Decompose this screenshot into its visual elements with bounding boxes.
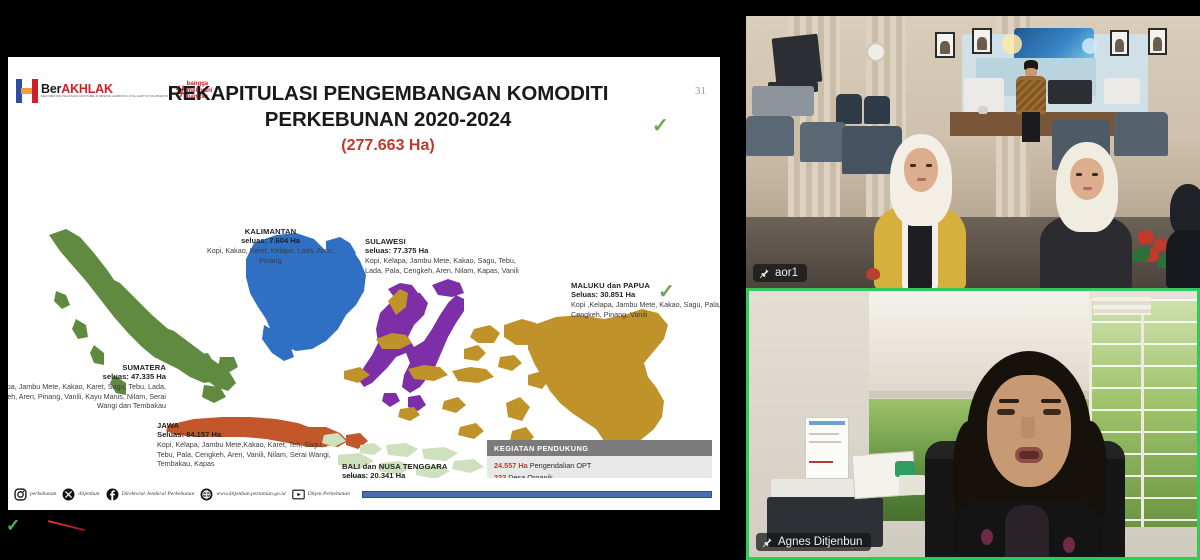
supporting-activity-row: 24.557 Ha Pengendalian OPT — [494, 460, 705, 472]
facebook-icon — [106, 488, 119, 501]
map-label-jawa: JAWA Seluas: 84.157 Ha Kopi, Kelapa, Jam… — [157, 421, 337, 469]
map-label-sumatera: SUMATERA seluas: 47.335 Ha Kopi, Kelapa,… — [8, 363, 166, 411]
annotation-pointer-line — [48, 520, 85, 531]
social-label: Direktorat Jenderal Perkebunan — [122, 491, 195, 497]
slide-progress-bar — [362, 491, 712, 498]
participant-name-badge-aor1: aor1 — [753, 264, 807, 282]
pin-icon — [762, 537, 773, 548]
map-region-sulawesi — [358, 279, 464, 411]
social-instagram: perkebunan — [14, 488, 56, 501]
screen-share-pane: BerAKHLAK BERORIENTASI PELAYANAN AKUNTAB… — [0, 0, 742, 560]
map-label-maluku-papua: MALUKU dan PAPUA Seluas: 30.851 Ha Kopi … — [571, 281, 720, 319]
social-label: ditjenbun — [78, 491, 99, 497]
social-x-twitter: ditjenbun — [62, 488, 99, 501]
participant-name-badge-agnes-ditjenbun: Agnes Ditjenbun — [756, 533, 871, 551]
participant-name: Agnes Ditjenbun — [778, 536, 862, 548]
social-label: perkebunan — [30, 491, 56, 497]
social-youtube: Ditjen Perkebunan — [292, 488, 350, 501]
video-feed-office — [749, 291, 1197, 557]
instagram-icon — [14, 488, 27, 501]
slide-footer: perkebunan ditjenbun Direktorat Jenderal… — [8, 478, 720, 510]
social-label: Ditjen Perkebunan — [308, 491, 350, 497]
youtube-icon — [292, 488, 305, 501]
map-label-kalimantan: KALIMANTAN seluas: 7.604 Ha Kopi, Kakao,… — [203, 227, 338, 265]
video-tile-aor1[interactable]: aor1 — [746, 16, 1200, 288]
globe-icon — [200, 488, 213, 501]
video-tile-agnes-ditjenbun[interactable]: Agnes Ditjenbun — [746, 288, 1200, 560]
social-website: www.ditjenbun.pertanian.go.id — [200, 488, 285, 501]
pin-icon — [759, 268, 770, 279]
social-facebook: Direktorat Jenderal Perkebunan — [106, 488, 195, 501]
annotation-check-mark-icon: ✓ — [6, 516, 20, 536]
video-feed-meeting-room — [746, 16, 1200, 288]
meeting-screen: BerAKHLAK BERORIENTASI PELAYANAN AKUNTAB… — [0, 0, 1200, 560]
map-label-sulawesi: SULAWESI seluas: 77.375 Ha Kopi, Kelapa,… — [365, 237, 530, 275]
x-twitter-icon — [62, 488, 75, 501]
presentation-slide: BerAKHLAK BERORIENTASI PELAYANAN AKUNTAB… — [8, 57, 720, 510]
supporting-activities-heading: KEGIATAN PENDUKUNG — [487, 440, 712, 456]
participant-name: aor1 — [775, 267, 798, 279]
social-label: www.ditjenbun.pertanian.go.id — [216, 491, 285, 497]
